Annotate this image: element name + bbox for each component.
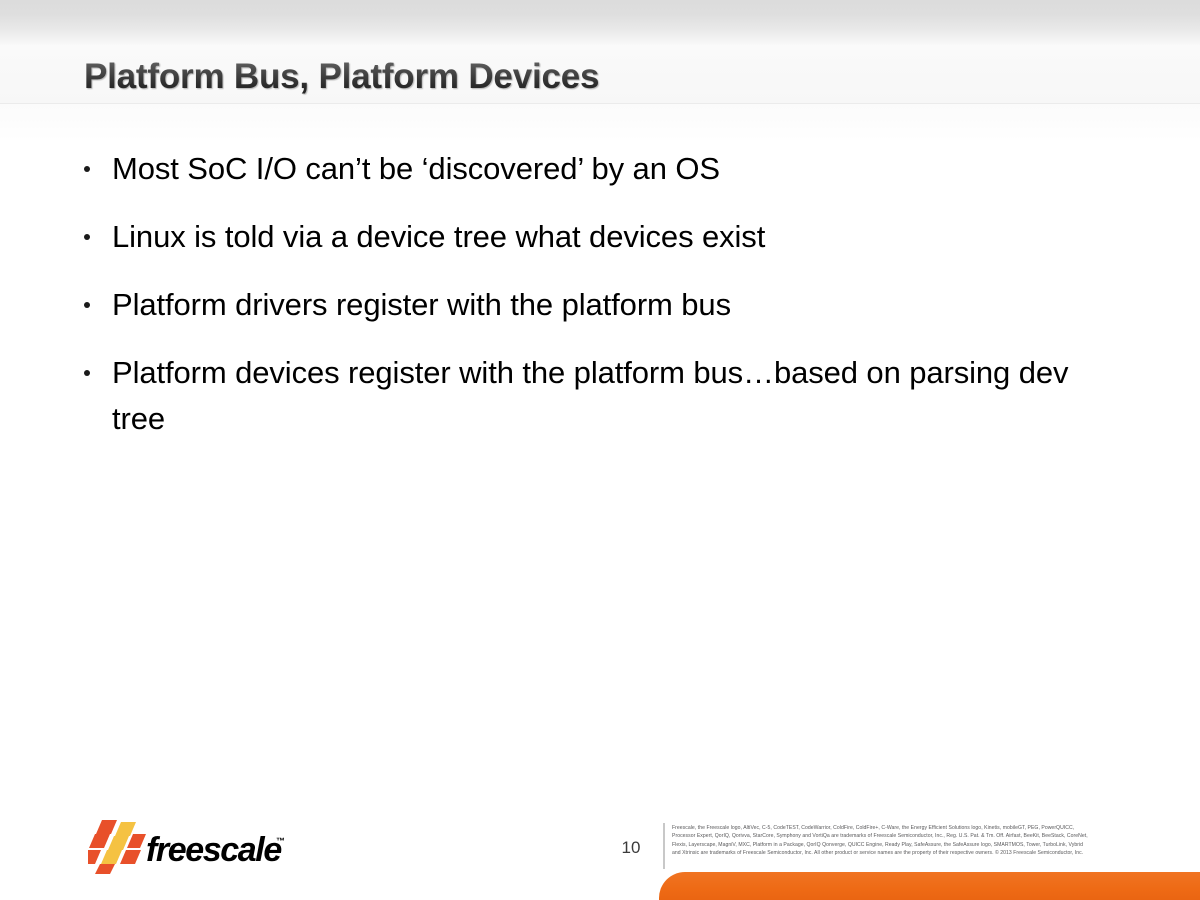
legal-line: Freescale, the Freescale logo, AltiVec, … [672,824,1152,832]
list-item: Platform devices register with the platf… [78,350,1118,442]
bullet-dot-icon [84,234,90,240]
freescale-chevron-blocks-icon [88,818,146,874]
top-gradient-band [0,0,1200,46]
footer-divider [663,823,665,869]
list-item: Most SoC I/O can’t be ‘discovered’ by an… [78,146,1118,192]
bullet-dot-icon [84,370,90,376]
freescale-logo: freescale ™ [88,818,303,880]
list-item-label: Platform drivers register with the platf… [112,282,1118,328]
legal-line: Processor Expert, QorIQ, Qorivva, StarCo… [672,832,1152,840]
list-item-label: Linux is told via a device tree what dev… [112,214,1118,260]
bullet-dot-icon [84,166,90,172]
legal-disclaimer: Freescale, the Freescale logo, AltiVec, … [672,824,1152,858]
list-item: Platform drivers register with the platf… [78,282,1118,328]
page-number: 10 [610,838,652,858]
slide-title: Platform Bus, Platform Devices [84,56,599,98]
bullet-list: Most SoC I/O can’t be ‘discovered’ by an… [78,146,1118,442]
orange-accent-bar [659,872,1200,900]
slide-canvas: Platform Bus, Platform Devices Most SoC … [0,0,1200,900]
list-item: Linux is told via a device tree what dev… [78,214,1118,260]
freescale-wordmark: freescale [146,832,281,868]
list-item-label: Platform devices register with the platf… [112,350,1118,442]
subheader-band [0,104,1200,140]
trademark-symbol: ™ [276,836,285,846]
legal-line: Flexis, Layerscape, MagniV, MXC, Platfor… [672,841,1152,849]
list-item-label: Most SoC I/O can’t be ‘discovered’ by an… [112,146,1118,192]
bullet-dot-icon [84,302,90,308]
legal-line: and Xtrinsic are trademarks of Freescale… [672,849,1152,857]
